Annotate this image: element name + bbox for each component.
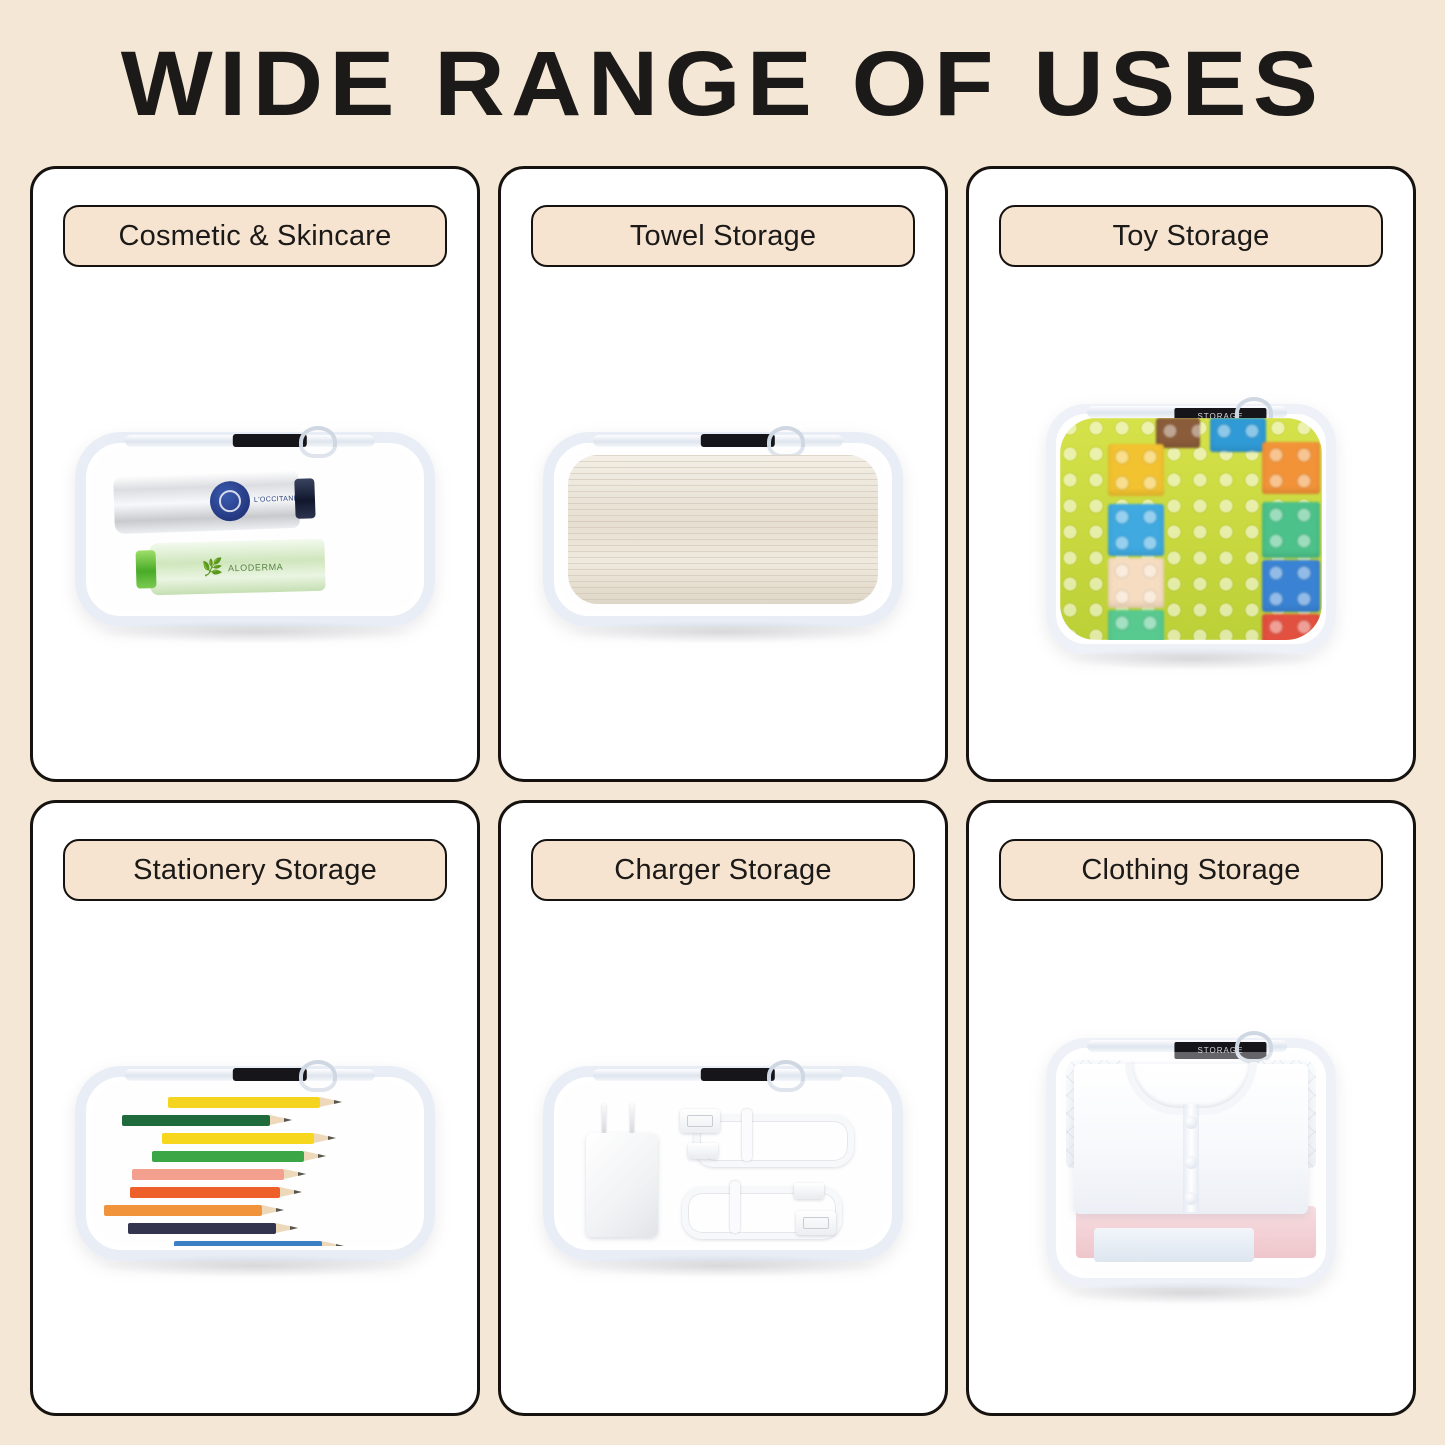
usb-a-connector [680,1109,720,1133]
infographic-page: WIDE RANGE OF USES Cosmetic & Skincare [0,0,1445,1445]
occitane-logo-icon [209,480,250,521]
product-shadow [1066,1282,1315,1304]
card-label-text: Toy Storage [1113,220,1270,253]
usb-cable-bundle [668,1179,838,1235]
zipper-tab [233,434,307,447]
pouch-interior: L'OCCITANE 🌿 ALODERMA [90,447,420,612]
lego-brick [1108,610,1164,640]
card-photo-charger [501,913,945,1413]
clear-pouch [75,1066,435,1261]
card-label-text: Stationery Storage [133,854,377,887]
clear-pouch: L'OCCITANE 🌿 ALODERMA [75,432,435,627]
colored-pencil [130,1187,280,1198]
uses-grid: Cosmetic & Skincare L'OCCITANE [30,166,1416,1416]
zipper-tab [701,1068,775,1081]
use-card-towel-storage[interactable]: Towel Storage [498,166,948,782]
product-shadow [568,621,878,643]
lego-brick [1108,504,1164,556]
card-label-chip: Toy Storage [999,205,1383,267]
lego-brick [1108,558,1164,608]
card-label-chip: Charger Storage [531,839,915,901]
use-card-clothing-storage[interactable]: Clothing Storage STORAGE [966,800,1416,1416]
pouch-interior [1060,1052,1322,1274]
shirt-button [1185,1116,1198,1129]
colored-pencil [104,1205,262,1216]
use-card-stationery-storage[interactable]: Stationery Storage [30,800,480,1416]
aloe-leaf-icon: 🌿 [202,558,224,576]
pouch-interior [558,447,888,612]
card-label-text: Towel Storage [630,220,816,253]
folded-shirt [1074,1064,1308,1214]
card-label-text: Charger Storage [614,854,831,887]
clear-pouch: STORAGE [1046,1038,1336,1288]
colored-pencil [132,1169,284,1180]
product-shadow [100,621,410,643]
wall-charger [586,1133,658,1237]
page-title: WIDE RANGE OF USES [0,36,1445,132]
card-photo-toys: STORAGE [969,279,1413,779]
zipper-tab [233,1068,307,1081]
pouch-interior [1060,418,1322,640]
card-label-chip: Cosmetic & Skincare [63,205,447,267]
charger-prong [630,1103,634,1133]
card-label-text: Cosmetic & Skincare [119,220,392,253]
lego-brick [1262,614,1320,640]
zipper-tab [701,434,775,447]
lego-brick [1210,418,1266,452]
clear-pouch [543,1066,903,1261]
card-photo-cosmetic: L'OCCITANE 🌿 ALODERMA [33,279,477,779]
usb-a-connector [796,1211,836,1235]
hand-cream-brand-text: L'OCCITANE [254,495,299,504]
card-label-chip: Clothing Storage [999,839,1383,901]
skincare-cap [136,550,157,589]
pouch-interior [558,1081,888,1246]
card-photo-pencils [33,913,477,1413]
colored-pencil [128,1223,276,1234]
skincare-brand-text: ALODERMA [228,561,284,572]
shirt-button [1185,1192,1198,1205]
colored-pencil [162,1133,314,1144]
hand-cream-cap [294,478,315,519]
card-label-text: Clothing Storage [1081,854,1300,887]
colored-pencil [174,1241,322,1246]
card-label-chip: Towel Storage [531,205,915,267]
colored-pencil [152,1151,304,1162]
product-shadow [568,1255,878,1277]
card-label-chip: Stationery Storage [63,839,447,901]
usb-micro-connector [794,1183,824,1199]
card-photo-clothing: STORAGE [969,913,1413,1413]
colored-pencil [122,1115,270,1126]
pouch-interior [90,1081,420,1246]
use-card-toy-storage[interactable]: Toy Storage STORAGE [966,166,1416,782]
usb-micro-connector [688,1143,718,1159]
product-shadow [100,1255,410,1277]
hand-cream-tube: L'OCCITANE [113,469,300,533]
use-card-cosmetic-skincare[interactable]: Cosmetic & Skincare L'OCCITANE [30,166,480,782]
usb-cable-bundle [680,1107,850,1163]
product-shadow [1066,648,1315,670]
colored-pencil [168,1097,320,1108]
clear-pouch: STORAGE [1046,404,1336,654]
charger-prong [602,1103,606,1133]
shirt-button [1185,1156,1198,1169]
lego-brick [1262,560,1320,612]
folded-garment-blue [1094,1228,1254,1262]
card-photo-towel [501,279,945,779]
lego-brick [1108,444,1164,496]
lego-brick [1262,442,1320,494]
folded-towel [568,455,878,604]
cable-tie [730,1181,740,1233]
clear-pouch [543,432,903,627]
lego-brick [1262,502,1320,558]
cable-tie [742,1109,752,1161]
use-card-charger-storage[interactable]: Charger Storage [498,800,948,1416]
skincare-tube: 🌿 ALODERMA [149,538,325,595]
